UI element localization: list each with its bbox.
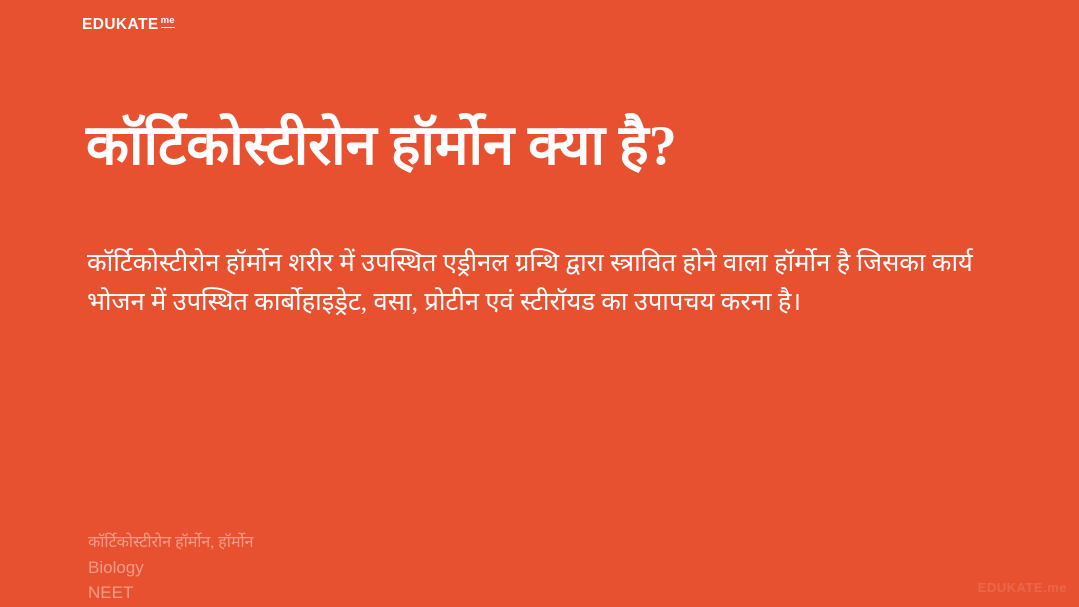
- footer-tags: कॉर्टिकोस्टीरोन हॉर्मोन, हॉर्मोन: [88, 530, 254, 555]
- brand-name: EDUKATE: [82, 17, 159, 33]
- slide-title: कॉर्टिकोस्टीरोन हॉर्मोन क्या है?: [86, 113, 1016, 179]
- brand-suffix: me: [161, 16, 175, 28]
- slide-body-text: कॉर्टिकोस्टीरोन हॉर्मोन शरीर में उपस्थित…: [87, 243, 999, 321]
- slide-canvas: EDUKATE me कॉर्टिकोस्टीरोन हॉर्मोन क्या …: [0, 0, 1079, 607]
- footer-exam: NEET: [88, 580, 254, 605]
- brand-logo[interactable]: EDUKATE me: [82, 17, 175, 33]
- corner-watermark: EDUKATE.me: [978, 580, 1067, 595]
- footer-subject: Biology: [88, 555, 254, 580]
- footer-meta: कॉर्टिकोस्टीरोन हॉर्मोन, हॉर्मोन Biology…: [88, 530, 254, 605]
